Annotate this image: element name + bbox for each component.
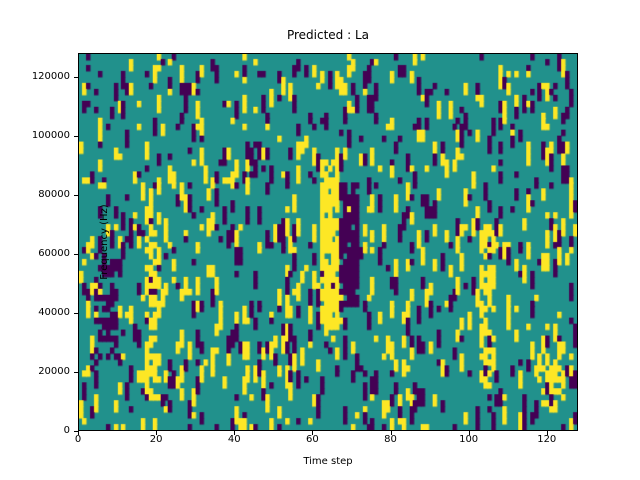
figure-canvas: Predicted : La Frequency (Hz) Time step … (0, 0, 640, 480)
y-tick-mark (74, 313, 78, 314)
y-tick-mark (74, 136, 78, 137)
x-tick-label: 0 (48, 435, 108, 445)
x-tick-label: 80 (361, 435, 421, 445)
y-tick-label: 120000 (0, 72, 70, 82)
y-tick-label: 20000 (0, 367, 70, 377)
y-tick-label: 80000 (0, 190, 70, 200)
y-tick-mark (74, 372, 78, 373)
x-tick-label: 60 (282, 435, 342, 445)
page-title: Predicted : La (78, 28, 578, 42)
y-axis-label: Frequency (Hz) (99, 142, 110, 342)
x-tick-label: 20 (126, 435, 186, 445)
x-tick-label: 100 (439, 435, 499, 445)
y-tick-mark (74, 195, 78, 196)
y-tick-label: 40000 (0, 308, 70, 318)
x-axis-label: Time step (78, 456, 578, 467)
y-tick-mark (74, 77, 78, 78)
x-tick-label: 40 (204, 435, 264, 445)
x-tick-label: 120 (517, 435, 577, 445)
heatmap-axes[interactable] (78, 53, 578, 431)
y-tick-mark (74, 254, 78, 255)
y-tick-label: 100000 (0, 131, 70, 141)
heatmap-image (79, 54, 577, 430)
y-tick-label: 60000 (0, 249, 70, 259)
